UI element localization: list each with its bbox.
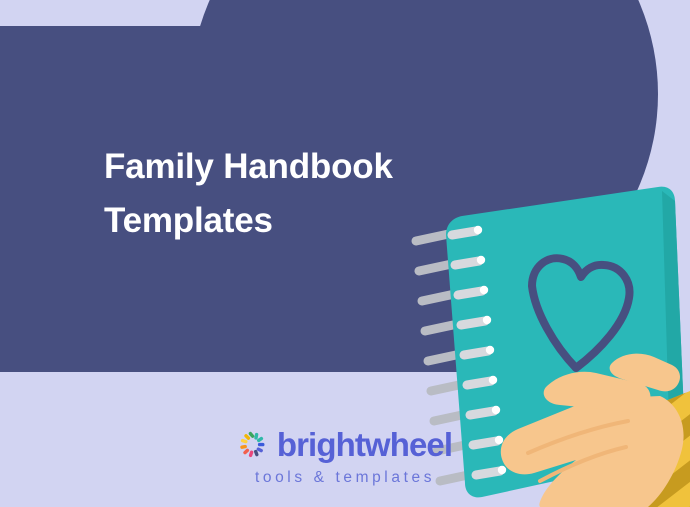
brand-tagline: tools & templates xyxy=(255,470,435,486)
brightwheel-pinwheel-icon xyxy=(238,430,268,460)
brand-lockup: brightwheel tools & templates xyxy=(0,428,690,486)
slide-canvas: Family Handbook Templates xyxy=(0,0,690,507)
brand-logo-row: brightwheel xyxy=(238,428,452,461)
brightwheel-wordmark: brightwheel xyxy=(277,428,452,461)
